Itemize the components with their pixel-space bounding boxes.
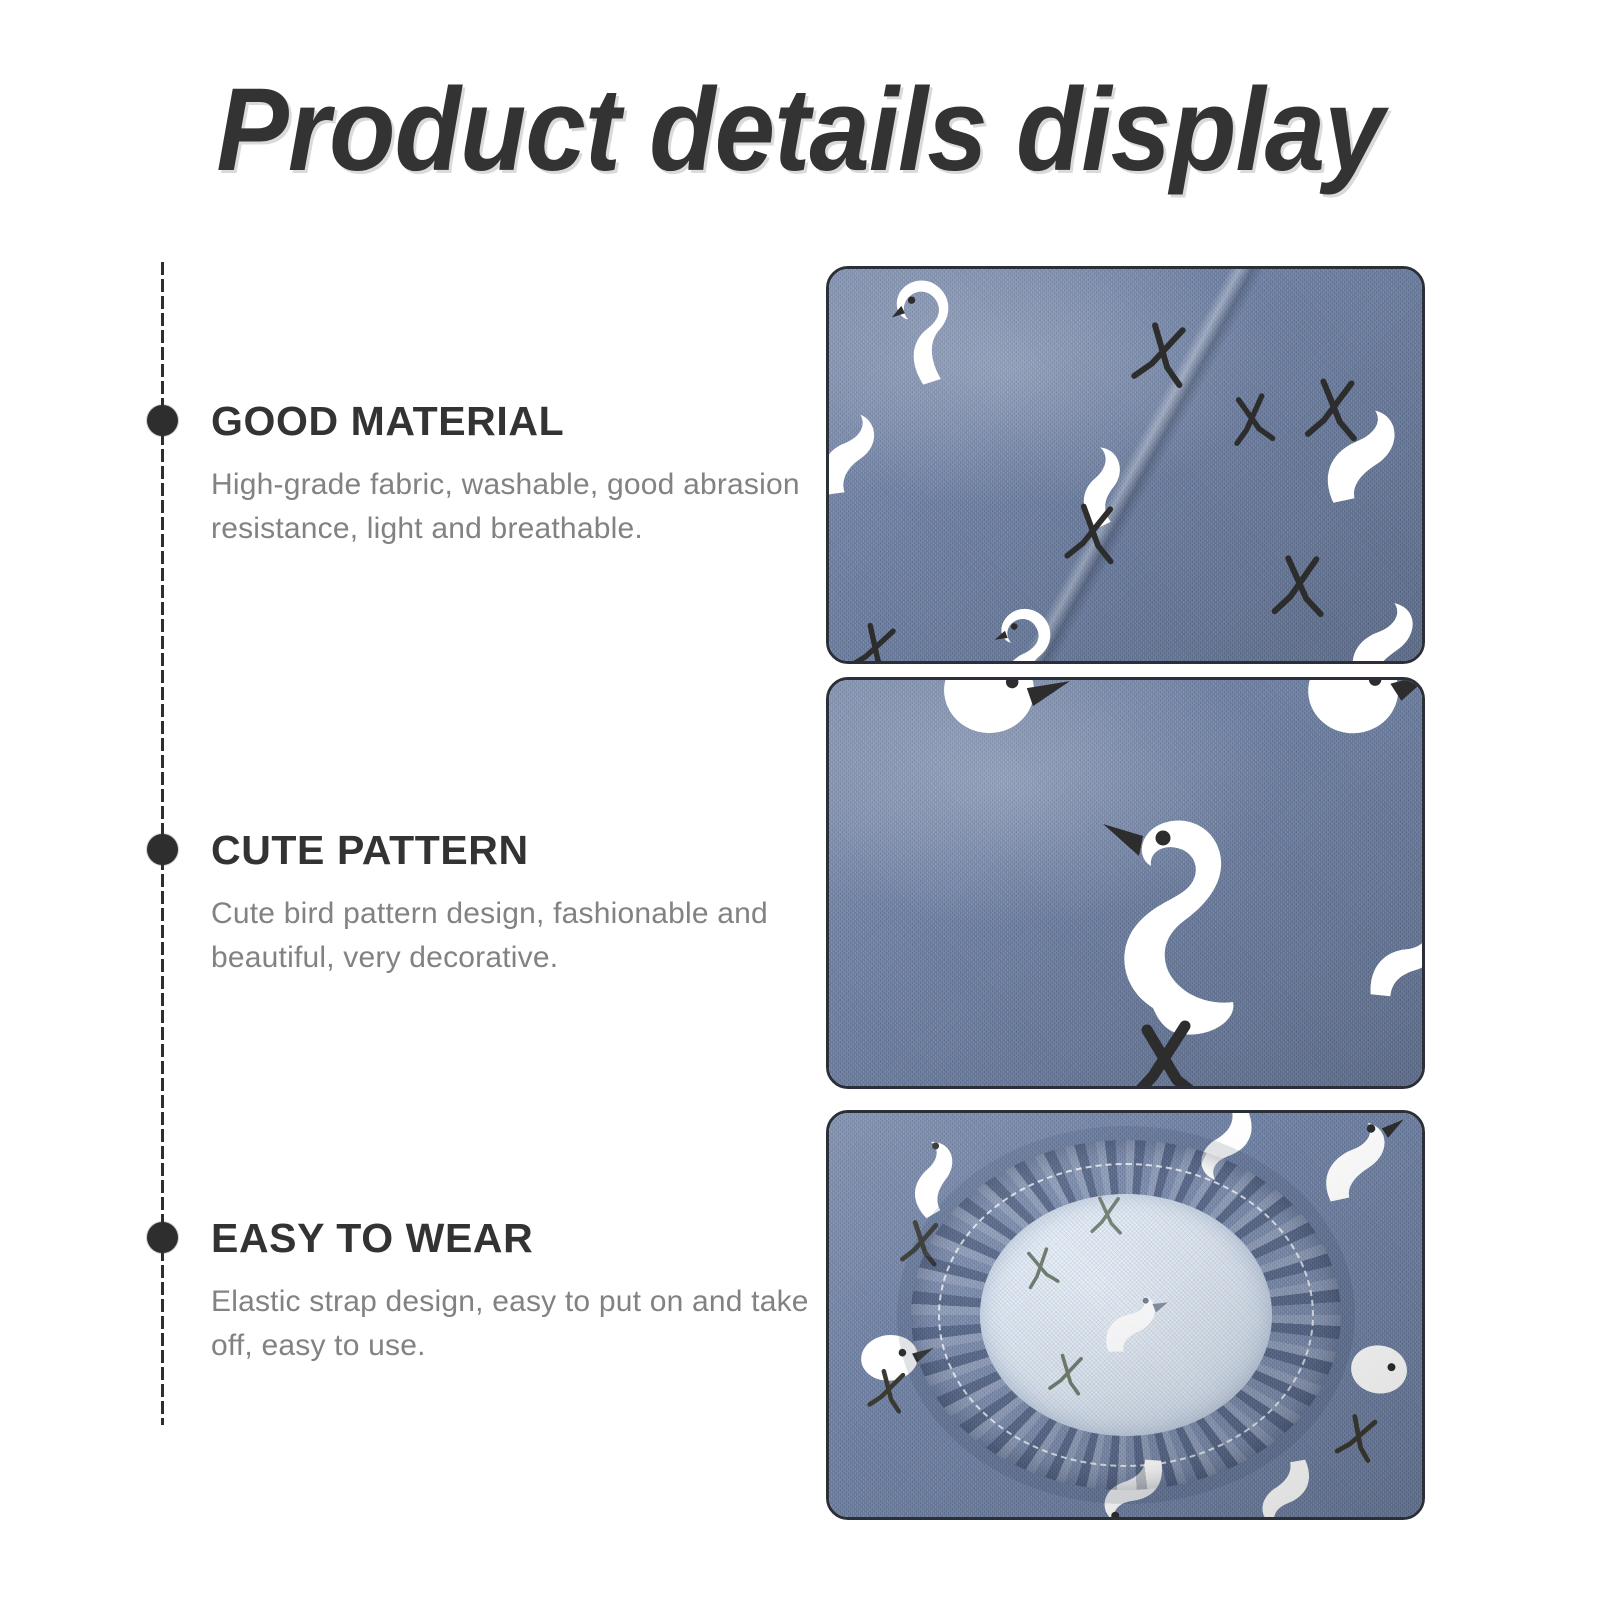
feature-heading-1: GOOD MATERIAL	[211, 398, 811, 445]
feature-heading-2: CUTE PATTERN	[211, 827, 811, 874]
swan-motif-icon-main	[1081, 780, 1301, 1080]
swan-motif-icon	[1358, 899, 1422, 1021]
page-title: Product details display	[64, 62, 1536, 198]
photo-3-content	[829, 1113, 1422, 1517]
elastic-opening-photo	[826, 1110, 1425, 1520]
swan-motif-icon	[829, 384, 934, 510]
fabric-closeup-seam-photo	[826, 266, 1425, 664]
timeline-bullet-icon-3	[147, 1222, 178, 1253]
photo-1-content	[829, 269, 1422, 661]
fabric-shading-3	[829, 1113, 1422, 1517]
feature-description-3: Elastic strap design, easy to put on and…	[211, 1280, 811, 1369]
swan-legs-icon	[1055, 494, 1152, 584]
feature-block-good-material: GOOD MATERIAL High-grade fabric, washabl…	[211, 398, 811, 552]
timeline-bullet-icon-2	[147, 834, 178, 865]
swan-motif-icon	[914, 680, 1086, 769]
feature-description-2: Cute bird pattern design, fashionable an…	[211, 892, 811, 981]
photo-2-content	[829, 680, 1422, 1086]
timeline-bullet-icon-1	[147, 405, 178, 436]
swan-motif-icon	[1287, 680, 1422, 764]
swan-pattern-closeup-photo	[826, 677, 1425, 1089]
feature-block-easy-to-wear: EASY TO WEAR Elastic strap design, easy …	[211, 1215, 811, 1369]
feature-heading-3: EASY TO WEAR	[211, 1215, 811, 1262]
swan-legs-icon	[1225, 387, 1302, 456]
feature-description-1: High-grade fabric, washable, good abrasi…	[211, 463, 811, 552]
feature-block-cute-pattern: CUTE PATTERN Cute bird pattern design, f…	[211, 827, 811, 981]
